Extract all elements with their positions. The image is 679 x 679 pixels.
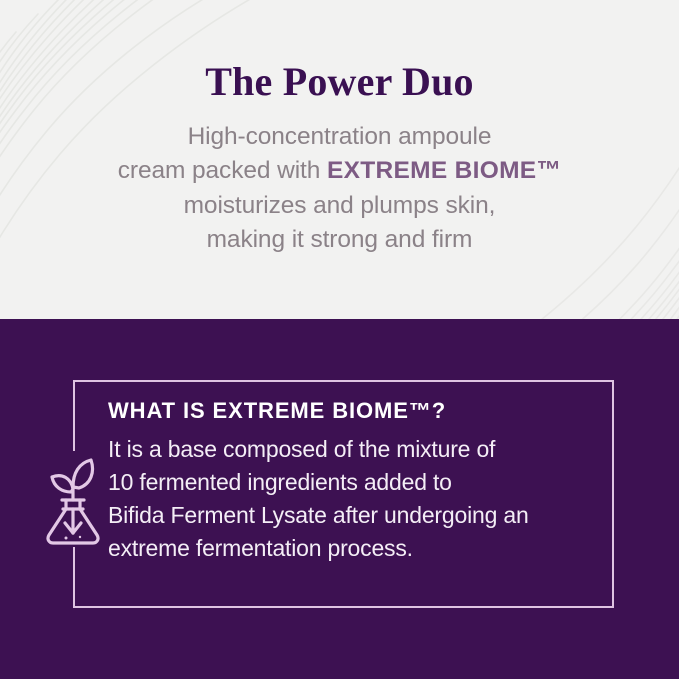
subtitle-line-4: making it strong and firm [118, 223, 562, 257]
flask-sprout-icon [35, 451, 111, 547]
info-box-body: It is a base composed of the mixture of … [108, 433, 598, 565]
hero-text-block: The Power Duo High-concentration ampoule… [0, 0, 679, 319]
info-box-title: WHAT IS EXTREME BIOME™? [108, 398, 598, 424]
subtitle-line-2: cream packed with EXTREME BIOME™ [118, 154, 562, 188]
info-box-content: WHAT IS EXTREME BIOME™? It is a base com… [108, 398, 598, 565]
page-title: The Power Duo [205, 60, 474, 103]
info-box: WHAT IS EXTREME BIOME™? It is a base com… [73, 380, 614, 608]
subtitle-line-3: moisturizes and plumps skin, [118, 189, 562, 223]
info-purple-section: WHAT IS EXTREME BIOME™? It is a base com… [0, 319, 679, 679]
info-body-line-2: 10 fermented ingredients added to [108, 466, 598, 499]
hero-light-section: The Power Duo High-concentration ampoule… [0, 0, 679, 319]
info-body-line-3: Bifida Ferment Lysate after undergoing a… [108, 499, 598, 532]
promo-banner: The Power Duo High-concentration ampoule… [0, 0, 679, 679]
subtitle-line-1: High-concentration ampoule [118, 120, 562, 154]
info-body-line-4: extreme fermentation process. [108, 532, 598, 565]
hero-subtitle: High-concentration ampoule cream packed … [118, 120, 562, 257]
info-body-line-1: It is a base composed of the mixture of [108, 433, 598, 466]
subtitle-line-2-text: cream packed with [118, 157, 327, 184]
brand-name-extreme-biome: EXTREME BIOME™ [327, 157, 561, 184]
